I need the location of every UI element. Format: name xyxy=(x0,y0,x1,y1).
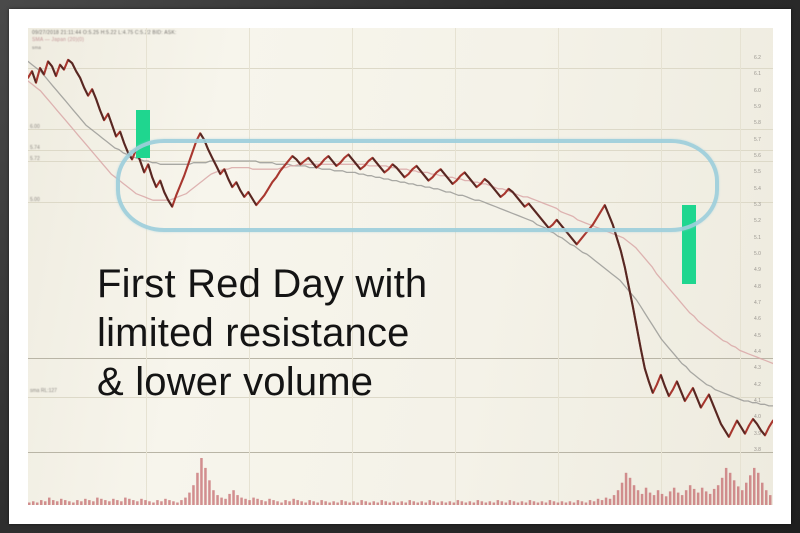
price-axis-label: 3.8 xyxy=(754,447,772,453)
volume-indicator-label: sma RL:127 xyxy=(30,388,57,394)
price-axis-label: 5.5 xyxy=(754,169,772,175)
price-axis-label: 5.9 xyxy=(754,104,772,110)
price-axis-label: 4.4 xyxy=(754,349,772,355)
price-axis-label: 5.7 xyxy=(754,137,772,143)
caption-line-3: & lower volume xyxy=(97,358,567,407)
level-label: 5.74 xyxy=(30,145,40,151)
paper-background: 09/27/2018 21:11:44 O:5.25 H:5.22 L:4.75… xyxy=(9,9,791,524)
caption-line-1: First Red Day with xyxy=(97,260,567,309)
volume-panel xyxy=(28,452,773,505)
price-axis-label: 3.9 xyxy=(754,431,772,437)
price-axis-label: 4.3 xyxy=(754,365,772,371)
price-axis-label: 4.5 xyxy=(754,333,772,339)
price-axis-label: 5.0 xyxy=(754,251,772,257)
chart-header-indicator-line: SMA — Japan (20)(0) xyxy=(32,37,769,44)
price-axis-label: 6.2 xyxy=(754,55,772,61)
price-axis-label: 4.9 xyxy=(754,267,772,273)
price-axis-label: 4.1 xyxy=(754,398,772,404)
caption-line-2: limited resistance xyxy=(97,309,567,358)
consolidation-range-oval xyxy=(116,139,719,232)
caption-overlay: First Red Day with limited resistance & … xyxy=(97,260,567,407)
level-label: 5.00 xyxy=(30,197,40,203)
volume-plot xyxy=(28,452,773,505)
price-axis-label: 4.8 xyxy=(754,284,772,290)
price-axis-label: 5.3 xyxy=(754,202,772,208)
price-axis-label: 5.1 xyxy=(754,235,772,241)
price-axis-label: 4.0 xyxy=(754,414,772,420)
image-frame: 09/27/2018 21:11:44 O:5.25 H:5.22 L:4.75… xyxy=(0,0,800,533)
chart-header-quote-line: 09/27/2018 21:11:44 O:5.25 H:5.22 L:4.75… xyxy=(32,30,769,37)
price-axis-label: 4.7 xyxy=(754,300,772,306)
level-label: 6.00 xyxy=(30,124,40,130)
price-axis-label: 5.6 xyxy=(754,153,772,159)
price-axis-label: 5.4 xyxy=(754,186,772,192)
price-axis-label: 4.6 xyxy=(754,316,772,322)
level-label: 5.72 xyxy=(30,156,40,162)
price-axis-label: 6.1 xyxy=(754,71,772,77)
price-axis-label: 5.2 xyxy=(754,218,772,224)
price-axis-label: 6.0 xyxy=(754,88,772,94)
stock-chart: 09/27/2018 21:11:44 O:5.25 H:5.22 L:4.75… xyxy=(28,28,773,505)
price-axis-label: 4.2 xyxy=(754,382,772,388)
price-axis-label: 5.8 xyxy=(754,120,772,126)
